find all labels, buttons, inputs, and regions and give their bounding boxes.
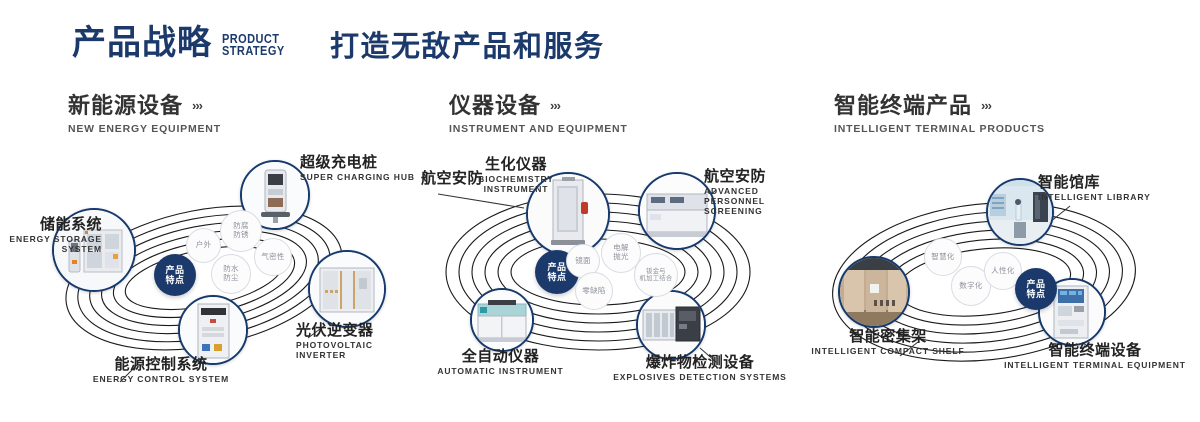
- feature-bubble-anticorrosion[interactable]: 防腐 防锈: [220, 210, 262, 252]
- feature-bubble-core-1[interactable]: 产品 特点: [154, 254, 196, 296]
- section-title-en-1: INSTRUMENT AND EQUIPMENT: [449, 123, 628, 135]
- cluster-instrument: 航空安防 生化仪器 BIOCHEMISTRY INSTRUMENT: [398, 150, 798, 410]
- node-label-en: AUTOMATIC INSTRUMENT: [418, 367, 583, 377]
- node-label-en: INTELLIGENT LIBRARY: [1038, 193, 1158, 203]
- node-label-cn: 生化仪器: [456, 156, 576, 173]
- node-label-cn: 储能系统: [2, 216, 102, 233]
- node-automatic-instrument[interactable]: [470, 288, 534, 352]
- section-title-cn-2: 智能终端产品 ›››: [834, 94, 1045, 118]
- node-label-energy-storage-system: 储能系统 ENERGY STORAGE SYSTEM: [2, 216, 102, 255]
- cluster-intelligent-terminal: 智能馆库 INTELLIGENT LIBRARY 智能密集架 INTELLIGE…: [788, 150, 1188, 410]
- feature-bubble-waterproof[interactable]: 防水 防尘: [211, 254, 251, 294]
- brand-en-line2: STRATEGY: [222, 45, 285, 57]
- control-cabinet-icon: [180, 297, 246, 363]
- section-title-cn-0: 新能源设备 ›››: [68, 94, 221, 118]
- section-title-en-2: INTELLIGENT TERMINAL PRODUCTS: [834, 123, 1045, 135]
- node-label-en: EXPLOSIVES DETECTION SYSTEMS: [590, 373, 810, 383]
- node-label-automatic-instrument: 全自动仪器 AUTOMATIC INSTRUMENT: [418, 348, 583, 377]
- node-label-en: ENERGY CONTROL SYSTEM: [66, 375, 256, 385]
- node-label-en: BIOCHEMISTRY INSTRUMENT: [456, 175, 576, 195]
- explosives-detector-icon: [638, 292, 704, 358]
- feature-bubble-text: 电解 抛光: [613, 244, 629, 261]
- chevrons-icon-1: ›››: [550, 99, 560, 113]
- section-header-intelligent-terminal: 智能终端产品 ››› INTELLIGENT TERMINAL PRODUCTS: [834, 94, 1045, 135]
- section-title-text-0: 新能源设备: [68, 94, 183, 118]
- feature-bubble-text: 镜面: [575, 257, 591, 266]
- feature-bubble-sheetmetal-machining[interactable]: 钣金与 机加工结合: [634, 253, 678, 297]
- feature-bubble-text: 产品 特点: [547, 262, 566, 283]
- feature-bubble-intelligentization[interactable]: 智慧化: [924, 238, 962, 276]
- brand-title-en: PRODUCT STRATEGY: [222, 33, 285, 60]
- feature-bubble-text: 数字化: [959, 282, 982, 291]
- chevrons-icon-0: ›››: [192, 99, 202, 113]
- section-header-instrument: 仪器设备 ››› INSTRUMENT AND EQUIPMENT: [449, 94, 628, 135]
- node-label-energy-control-system: 能源控制系统 ENERGY CONTROL SYSTEM: [66, 356, 256, 385]
- feature-bubble-text: 人性化: [991, 267, 1014, 276]
- product-strategy-infographic: 产品战略 PRODUCT STRATEGY 打造无敌产品和服务 新能源设备 ››…: [0, 0, 1200, 422]
- brand-block: 产品战略 PRODUCT STRATEGY: [72, 26, 293, 60]
- node-label-intelligent-compact-shelf: 智能密集架 INTELLIGENT COMPACT SHELF: [798, 328, 978, 357]
- node-label-cn: 全自动仪器: [418, 348, 583, 365]
- feature-bubble-airtightness[interactable]: 气密性: [254, 238, 292, 276]
- node-intelligent-compact-shelf[interactable]: [838, 256, 910, 328]
- feature-bubble-zero-defect[interactable]: 零缺陷: [575, 272, 613, 310]
- section-title-text-2: 智能终端产品: [834, 94, 972, 118]
- screening-machine-icon: [640, 174, 714, 248]
- cluster-new-energy: 储能系统 ENERGY STORAGE SYSTEM 超级充电桩 SUPER C…: [8, 150, 408, 410]
- feature-bubble-text: 户外: [196, 241, 212, 250]
- node-photovoltaic-inverter[interactable]: [308, 250, 386, 328]
- node-label-en: INTELLIGENT TERMINAL EQUIPMENT: [1000, 361, 1190, 371]
- feature-bubble-text: 产品 特点: [165, 265, 184, 286]
- automatic-analyzer-icon: [472, 290, 532, 350]
- node-label-intelligent-library: 智能馆库 INTELLIGENT LIBRARY: [1038, 174, 1158, 203]
- node-label-explosives-detection-systems: 爆炸物检测设备 EXPLOSIVES DETECTION SYSTEMS: [590, 354, 810, 383]
- feature-bubble-outdoor[interactable]: 户外: [186, 228, 221, 263]
- feature-bubble-text: 智慧化: [931, 253, 954, 262]
- node-label-cn: 智能密集架: [798, 328, 978, 345]
- chevrons-icon-2: ›››: [981, 99, 991, 113]
- node-label-en: INTELLIGENT COMPACT SHELF: [798, 347, 978, 357]
- node-energy-control-system[interactable]: [178, 295, 248, 365]
- feature-bubble-core-3[interactable]: 产品 特点: [1015, 268, 1057, 310]
- feature-bubble-text: 产品 特点: [1026, 279, 1045, 300]
- brand-title-cn: 产品战略: [72, 26, 212, 60]
- node-label-intelligent-terminal-equipment: 智能终端设备 INTELLIGENT TERMINAL EQUIPMENT: [1000, 342, 1190, 371]
- node-explosives-detection-systems[interactable]: [636, 290, 706, 360]
- node-label-cn: 智能终端设备: [1000, 342, 1190, 359]
- feature-bubble-text: 防腐 防锈: [233, 222, 249, 239]
- feature-bubble-text: 钣金与 机加工结合: [640, 268, 673, 282]
- section-header-new-energy: 新能源设备 ››› NEW ENERGY EQUIPMENT: [68, 94, 221, 135]
- node-label-cn: 智能馆库: [1038, 174, 1158, 191]
- page-headline: 打造无敌产品和服务: [330, 32, 605, 64]
- section-title-cn-1: 仪器设备 ›››: [449, 94, 628, 118]
- page-header: 产品战略 PRODUCT STRATEGY 打造无敌产品和服务: [0, 0, 1200, 92]
- node-label-cn: 爆炸物检测设备: [590, 354, 810, 371]
- section-title-en-0: NEW ENERGY EQUIPMENT: [68, 123, 221, 135]
- section-title-text-1: 仪器设备: [449, 94, 541, 118]
- compact-shelf-icon: [840, 258, 908, 326]
- node-label-en: ENERGY STORAGE SYSTEM: [2, 235, 102, 255]
- feature-bubble-text: 零缺陷: [582, 287, 605, 296]
- pv-inverter-cabinet-icon: [310, 252, 384, 326]
- feature-bubble-text: 气密性: [261, 253, 284, 262]
- feature-bubble-text: 防水 防尘: [223, 265, 239, 282]
- node-label-cn: 能源控制系统: [66, 356, 256, 373]
- node-label-biochemistry-instrument: 生化仪器 BIOCHEMISTRY INSTRUMENT: [456, 156, 576, 195]
